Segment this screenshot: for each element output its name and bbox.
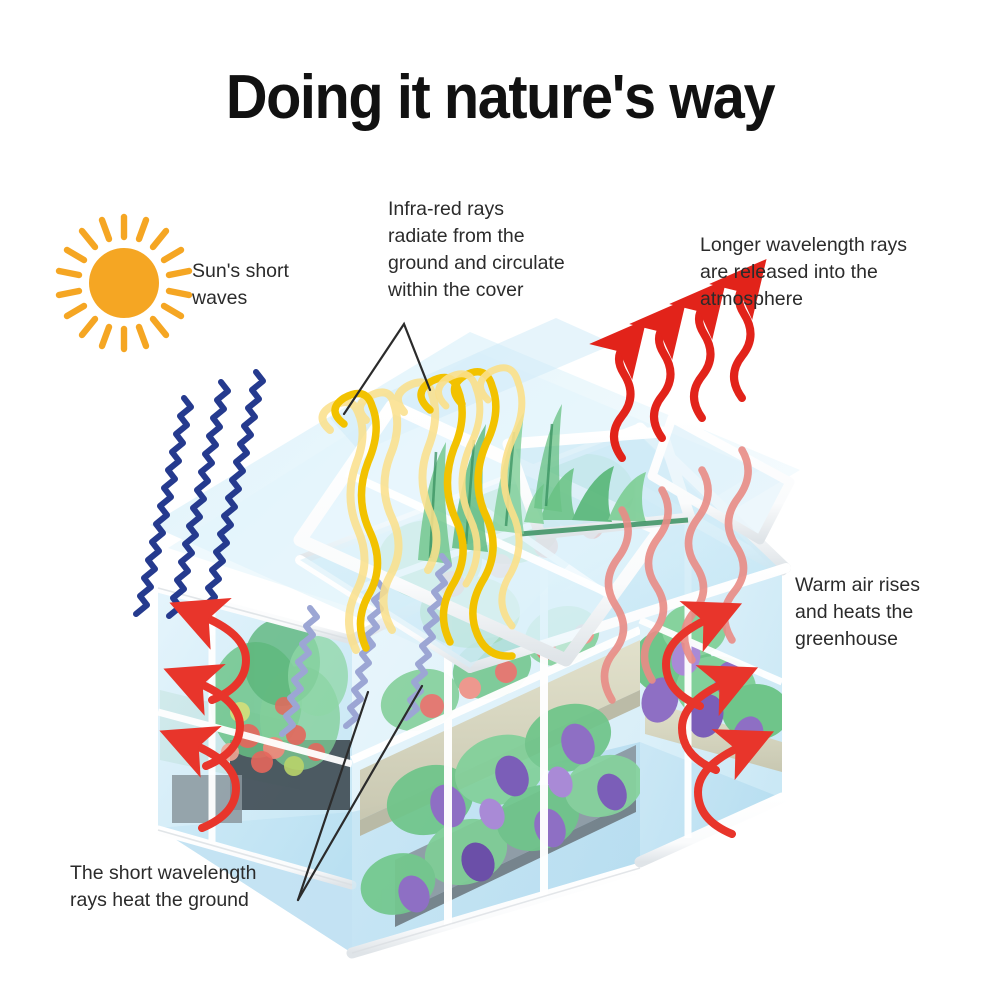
caption-warm-air-rises: Warm air rises and heats the greenhouse (795, 572, 920, 653)
caption-sun-short-waves: Sun's short waves (192, 258, 289, 312)
caption-infrared-rays: Infra-red rays radiate from the ground a… (388, 196, 565, 304)
caption-short-wavelength-ground: The short wavelength rays heat the groun… (70, 860, 256, 914)
left-gable-end (158, 588, 352, 885)
infographic-page: Doing it nature's way (0, 0, 1000, 1000)
caption-longer-wavelength: Longer wavelength rays are released into… (700, 232, 907, 313)
greenhouse-diagram (0, 0, 1000, 1000)
sun-icon (59, 217, 189, 349)
